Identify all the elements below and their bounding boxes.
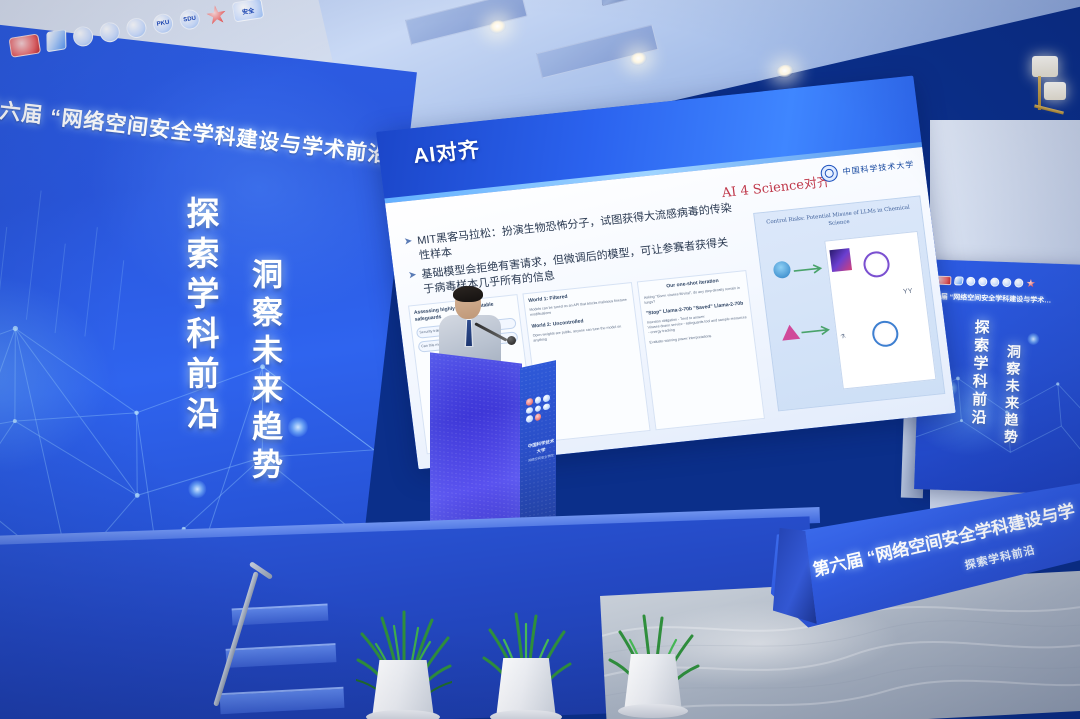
conference-hall-photo: PKU SDU 安全 第六届 “网络空间安全学科建设与学术前沿” 研讨会 探索学… — [0, 0, 1080, 719]
slide-title: AI对齐 — [411, 133, 481, 170]
slide-right-panel: Control Risks: Potential Misuse of LLMs … — [753, 195, 945, 411]
second-screen-vertical-right: 洞察未来趋势 — [1000, 344, 1024, 447]
potted-plant — [606, 562, 700, 712]
potted-plant — [356, 556, 452, 718]
chem-formula-text: ΥΥ — [903, 288, 913, 296]
university-seal-icon — [820, 164, 839, 183]
speaker-hair — [453, 286, 483, 302]
mini-card: Our one-shot iteration Asking "Given vir… — [637, 270, 765, 430]
backdrop-vertical-left: 探索学科前沿 — [176, 196, 224, 436]
logo-emblem-3 — [125, 17, 148, 40]
arrow-icon — [801, 322, 837, 339]
logo-emblem-5: SDU — [178, 8, 201, 31]
logo-emblem-2 — [98, 21, 121, 44]
bullet-arrow-icon: ➤ — [403, 235, 415, 265]
potted-plant — [478, 560, 574, 718]
university-name: 中国科学技术大学 — [842, 159, 915, 177]
podium-front-panel — [430, 352, 522, 539]
plant-saucer — [366, 710, 440, 719]
logo-star — [205, 4, 228, 27]
plant-saucer — [490, 710, 562, 719]
microphone-icon — [507, 336, 516, 345]
person-icon — [772, 261, 791, 280]
backdrop-vertical-right: 洞察未来趋势 — [242, 258, 287, 486]
university-logo: 中国科学技术大学 — [820, 156, 916, 183]
podium: 中国科学技术大学 网络空间安全学院 — [430, 358, 556, 538]
stage-step — [226, 643, 337, 668]
bullet-arrow-icon: ➤ — [407, 269, 419, 299]
arrow-icon — [793, 261, 829, 278]
ceiling-vent — [405, 0, 528, 45]
warning-icon — [780, 324, 800, 341]
logo-flag — [46, 29, 66, 52]
ceiling-diffuser — [595, 0, 645, 6]
ceiling-downlight — [775, 63, 794, 79]
slide-section-label: AI 4 Science对齐 — [721, 171, 831, 201]
right-panel-figure: ΥΥ ⚗ — [764, 225, 937, 400]
logo-emblem-1 — [72, 25, 95, 48]
plant-saucer — [618, 704, 688, 718]
logo-emblem-4: PKU — [152, 12, 175, 35]
molecule-thumbnail — [829, 248, 852, 272]
second-screen-vertical-left: 探索学科前沿 — [968, 319, 993, 428]
plant-pot — [496, 658, 556, 718]
stage-step — [220, 687, 345, 714]
chem-formula-text: ⚗ — [840, 333, 846, 341]
